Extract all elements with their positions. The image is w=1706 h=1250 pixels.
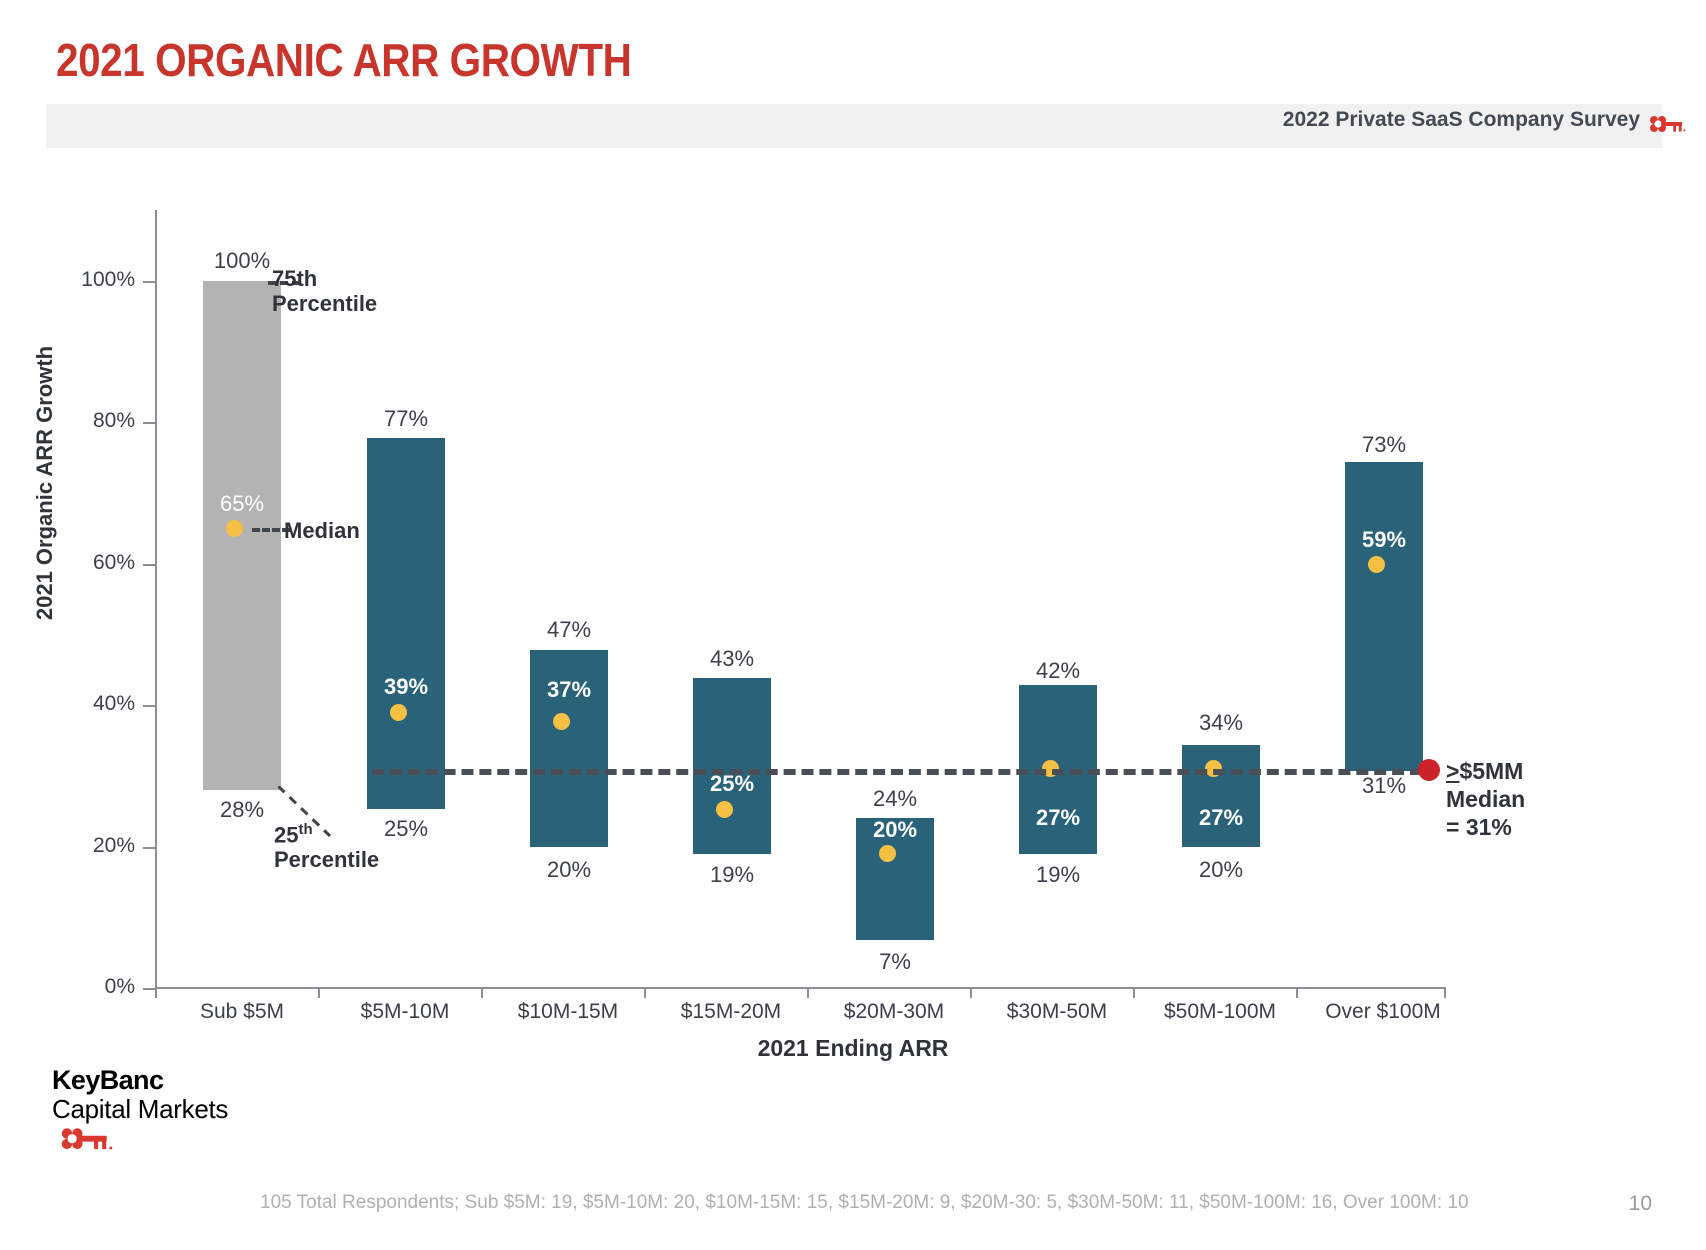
ref-annotation-line1: >$5MM <box>1446 757 1525 785</box>
xtick-label-sub-5m: Sub $5M <box>152 1000 332 1024</box>
bar-over-100m <box>1345 462 1423 771</box>
xtick-label-30m-50m: $30M-50M <box>967 1000 1147 1024</box>
y-axis-title: 2021 Organic ARR Growth <box>32 346 58 620</box>
brand-name-capital-markets: Capital Markets <box>52 1094 228 1125</box>
bar-top-label-5m-10m: 77% <box>346 406 466 432</box>
median-dot-20m-30m <box>879 845 896 862</box>
median-dot-over-100m <box>1368 556 1385 573</box>
reference-line-endpoint-dot <box>1418 759 1440 781</box>
reference-line-annotation: >$5MM Median = 31% <box>1446 757 1525 841</box>
brand-name-keybanc: KeyBanc <box>52 1065 228 1096</box>
xtick-label-10m-15m: $10M-15M <box>478 1000 658 1024</box>
bar-bottom-label-15m-20m: 19% <box>672 862 792 888</box>
bar-top-label-20m-30m: 24% <box>835 786 955 812</box>
callout-p25-line2: Percentile <box>274 848 379 873</box>
ytick-label-0: 0% <box>10 975 135 999</box>
median-dot-sub-5m <box>226 520 243 537</box>
median-label-over-100m: 59% <box>1324 527 1444 553</box>
ytick-label-80: 80% <box>10 409 135 433</box>
reference-line-5mm-median <box>372 769 1422 775</box>
median-label-20m-30m: 20% <box>835 817 955 843</box>
ytick-label-100: 100% <box>10 268 135 292</box>
page-number: 10 <box>1629 1192 1652 1216</box>
median-dot-15m-20m <box>716 801 733 818</box>
median-label-50m-100m: 27% <box>1161 805 1281 831</box>
xtick-label-50m-100m: $50M-100M <box>1130 1000 1310 1024</box>
ref-annotation-line2: Median <box>1446 785 1525 813</box>
median-label-sub-5m: 65% <box>182 491 302 517</box>
bar-top-label-over-100m: 73% <box>1324 432 1444 458</box>
xtick-label-over-100m: Over $100M <box>1293 1000 1473 1024</box>
median-label-30m-50m: 27% <box>998 805 1118 831</box>
bar-bottom-label-10m-15m: 20% <box>509 857 629 883</box>
bar-top-label-15m-20m: 43% <box>672 646 792 672</box>
bar-15m-20m <box>693 678 771 854</box>
callout-p75-line2: Percentile <box>272 292 377 317</box>
median-dot-10m-15m <box>553 713 570 730</box>
keybanc-key-icon <box>52 1126 120 1156</box>
ytick-label-20: 20% <box>10 834 135 858</box>
bar-bottom-label-30m-50m: 19% <box>998 862 1118 888</box>
median-dot-5m-10m <box>390 704 407 721</box>
callout-p75-line1: 75th <box>272 267 377 292</box>
median-label-10m-15m: 37% <box>509 677 629 703</box>
bar-50m-100m <box>1182 745 1260 847</box>
callout-median: Median <box>284 519 360 544</box>
xtick-label-20m-30m: $20M-30M <box>804 1000 984 1024</box>
x-axis-title: 2021 Ending ARR <box>0 1035 1706 1062</box>
ytick-label-60: 60% <box>10 551 135 575</box>
bar-top-label-30m-50m: 42% <box>998 658 1118 684</box>
ref-annotation-line3: = 31% <box>1446 813 1525 841</box>
xtick-label-5m-10m: $5M-10M <box>315 1000 495 1024</box>
bar-bottom-label-5m-10m: 25% <box>346 816 466 842</box>
ytick-label-40: 40% <box>10 692 135 716</box>
median-label-5m-10m: 39% <box>346 674 466 700</box>
y-axis-line <box>155 210 157 988</box>
bar-bottom-label-20m-30m: 7% <box>835 949 955 975</box>
callout-p75: 75th Percentile <box>272 267 377 316</box>
bar-5m-10m <box>367 438 445 809</box>
bar-top-label-50m-100m: 34% <box>1161 710 1281 736</box>
bar-sub-5m <box>203 281 281 790</box>
x-axis-line <box>155 987 1445 989</box>
bar-top-label-10m-15m: 47% <box>509 617 629 643</box>
keybanc-capital-markets-logo: KeyBanc Capital Markets <box>52 1065 228 1161</box>
bar-bottom-label-50m-100m: 20% <box>1161 857 1281 883</box>
xtick-label-15m-20m: $15M-20M <box>641 1000 821 1024</box>
chart-canvas: 100% 80% 60% 40% 20% 0% 2021 Organic ARR… <box>0 0 1706 1250</box>
footnote-respondents: 105 Total Respondents; Sub $5M: 19, $5M-… <box>260 1192 1469 1214</box>
